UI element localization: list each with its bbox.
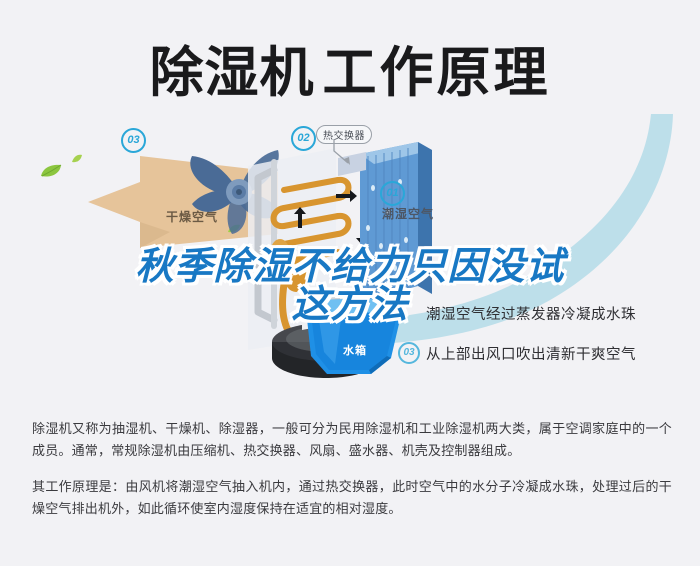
body-paragraph-1: 除湿机又称为抽湿机、干燥机、除湿器，一般可分为民用除湿机和工业除湿机两大类，属于…: [32, 418, 672, 462]
badge-01-humid-air: 01: [380, 181, 405, 206]
step-list: 02 潮湿空气经过蒸发器冷凝成水珠 03 从上部出风口吹出清新干爽空气: [398, 293, 698, 373]
body-paragraph-2: 其工作原理是：由风机将潮湿空气抽入机内，通过热交换器，此时空气中的水分子冷凝成水…: [32, 476, 672, 520]
leaf-icon: [72, 150, 82, 168]
step-badge: 03: [398, 342, 420, 364]
infographic-page: 除湿机工作原理 干燥空气: [0, 0, 700, 566]
badge-02-heat-exchanger: 02: [291, 126, 316, 151]
step-item: 02 潮湿空气经过蒸发器冷凝成水珠: [398, 293, 698, 333]
page-title-part2: 工作原理: [323, 43, 551, 103]
dehumidifier-diagram: 干燥空气: [0, 108, 700, 400]
page-title-part1: 除湿机: [150, 43, 315, 103]
step-item: 03 从上部出风口吹出清新干爽空气: [398, 333, 698, 373]
water-tank: 水箱: [305, 298, 405, 376]
callout-pointer-icon: [330, 139, 356, 170]
page-title: 除湿机工作原理: [0, 28, 700, 107]
leaf-icon: [40, 164, 62, 183]
water-tank-svg: [305, 298, 405, 376]
humid-air-label: 潮湿空气: [382, 205, 434, 222]
step-text: 从上部出风口吹出清新干爽空气: [426, 343, 636, 364]
body-text-block: 除湿机又称为抽湿机、干燥机、除湿器，一般可分为民用除湿机和工业除湿机两大类，属于…: [32, 418, 672, 520]
step-text: 潮湿空气经过蒸发器冷凝成水珠: [426, 303, 636, 324]
badge-03-dry-air: 03: [121, 128, 146, 153]
water-tank-label: 水箱: [305, 342, 405, 358]
